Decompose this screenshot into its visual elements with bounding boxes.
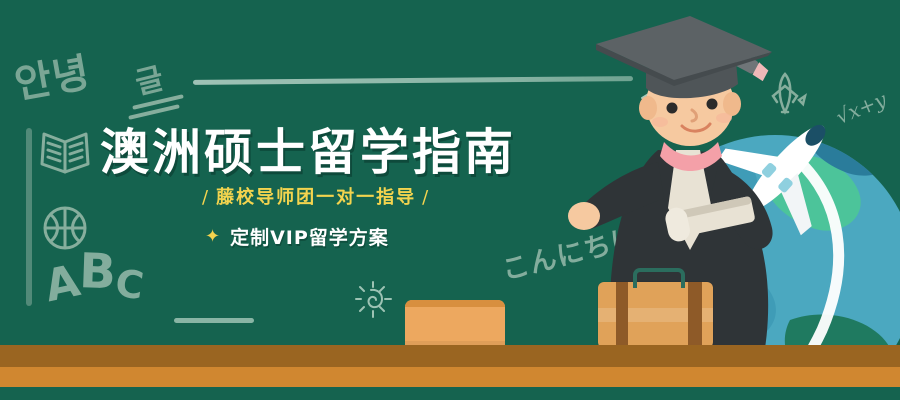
abc-letter-a: A [40,255,84,312]
character-blush-right [716,113,732,123]
subtitle-slash-left: / [196,187,216,208]
chalk-ledge-lower [0,367,900,387]
sun-spiral-icon [348,278,398,326]
tagline: ✦ 定制VIP留学方案 [205,223,389,250]
subtitle-text: 藤校导师团一对一指导 [216,187,416,208]
character-ear-right [723,92,741,116]
open-book-icon [38,130,92,176]
tagline-text: 定制VIP留学方案 [230,223,389,250]
chalk-ledge-base [0,387,900,400]
suitcase-strap-left [616,282,628,348]
illustration-svg [540,0,900,400]
character-blush-left [652,117,668,127]
abc-letter-c: C [112,261,146,308]
chalk-ledge-upper [0,345,900,367]
subtitle-slash-right: / [416,187,436,208]
sparkle-icon: ✦ [205,226,221,247]
abc-letter-b: B [78,243,117,300]
subtitle: /藤校导师团一对一指导/ [196,183,436,209]
suitcase-handle [633,268,685,288]
illustration [540,0,900,400]
character-left-hand [568,202,600,230]
korean-hello-doodle: 안녕 [10,40,95,110]
abc-doodle: ABC [43,249,145,312]
character-eye-right [707,99,718,110]
korean-geul-doodle: 글 [130,53,167,102]
basketball-icon [42,205,88,251]
eraser-top-strip [405,300,505,307]
chalkboard-frame-line [26,128,32,306]
suitcase-strap-right [688,282,702,348]
chalk-line-bottom [174,318,254,323]
promo-banner: 안녕 글 こんにちは ABC √x+y 澳洲硕士留学指南 [0,0,900,400]
page-title: 澳洲硕士留学指南 [100,113,516,184]
character-eye-left [667,103,678,114]
character-ear-left [639,96,657,120]
